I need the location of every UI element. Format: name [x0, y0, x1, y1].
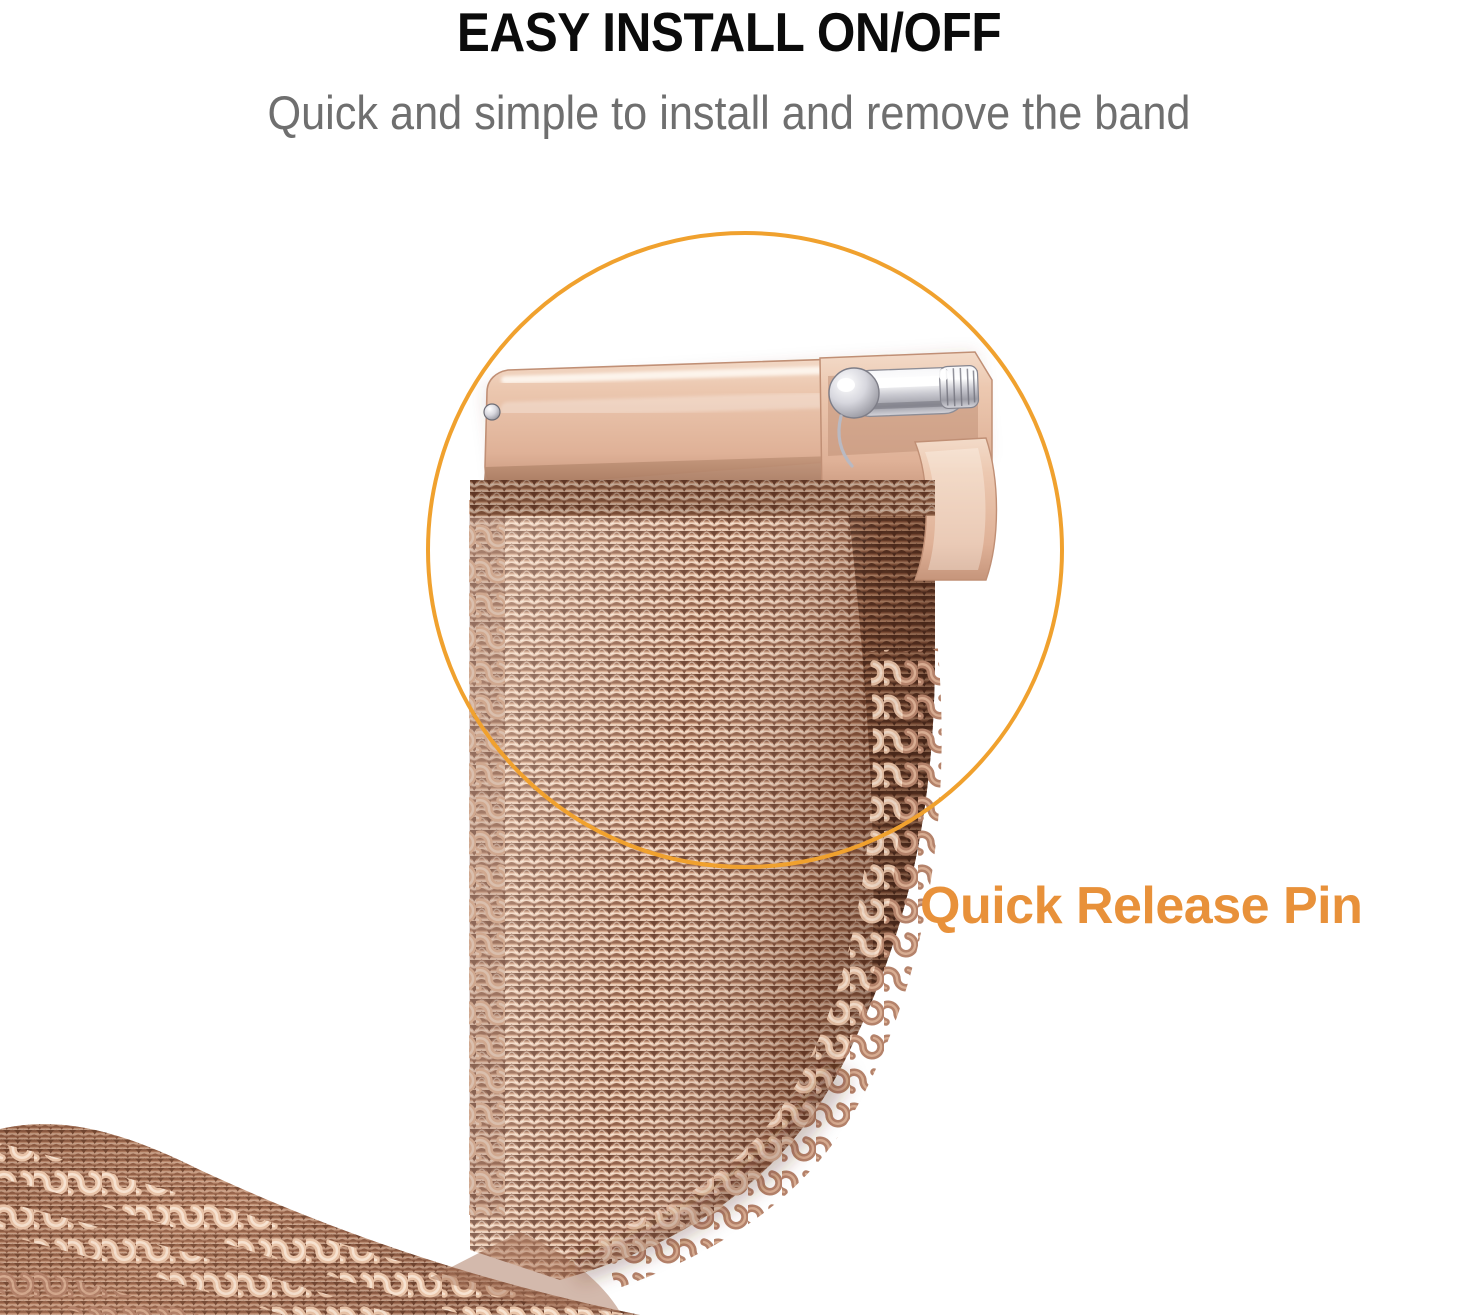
product-infographic: EASY INSTALL ON/OFF Quick and simple to …	[0, 0, 1458, 1315]
highlight-circle	[426, 231, 1064, 869]
page-title: EASY INSTALL ON/OFF	[73, 2, 1385, 62]
page-subtitle: Quick and simple to install and remove t…	[58, 86, 1399, 140]
quick-release-pin-label: Quick Release Pin	[920, 876, 1362, 936]
